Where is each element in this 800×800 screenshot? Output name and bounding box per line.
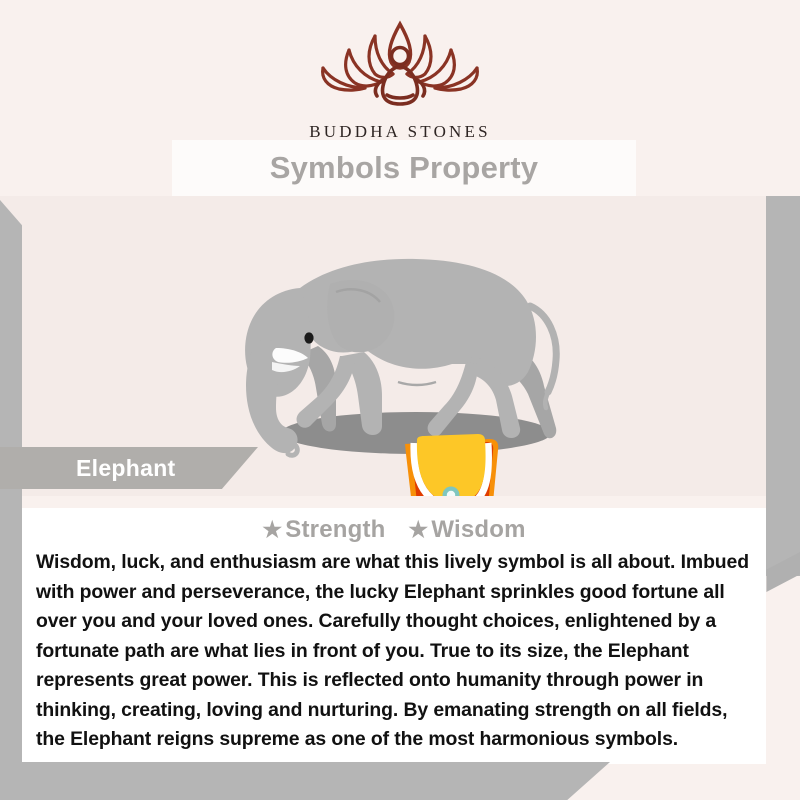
page-title: Symbols Property bbox=[270, 150, 539, 186]
page-title-band: Symbols Property bbox=[172, 140, 636, 196]
attribute-wisdom-label: Wisdom bbox=[431, 516, 525, 543]
brand-logo: BUDDHA STONES bbox=[0, 16, 800, 142]
attribute-list: ★Strength ★Wisdom bbox=[22, 508, 766, 544]
star-icon: ★ bbox=[262, 517, 282, 542]
frame-left-accent bbox=[0, 200, 22, 800]
star-icon: ★ bbox=[408, 517, 428, 542]
attribute-strength: ★Strength bbox=[262, 516, 385, 544]
symbol-label-banner: Elephant bbox=[0, 447, 258, 489]
attribute-wisdom: ★Wisdom bbox=[408, 516, 525, 544]
attribute-strength-label: Strength bbox=[285, 516, 385, 543]
symbol-label: Elephant bbox=[76, 455, 176, 482]
frame-bottom-accent bbox=[0, 762, 610, 800]
lotus-meditation-icon bbox=[305, 16, 495, 120]
description-text: Wisdom, luck, and enthusiasm are what th… bbox=[36, 548, 754, 755]
brand-name: BUDDHA STONES bbox=[0, 122, 800, 142]
description-block: ★Strength ★Wisdom Wisdom, luck, and enth… bbox=[22, 508, 766, 764]
symbol-property-card: BUDDHA STONES Symbols Property bbox=[0, 0, 800, 800]
